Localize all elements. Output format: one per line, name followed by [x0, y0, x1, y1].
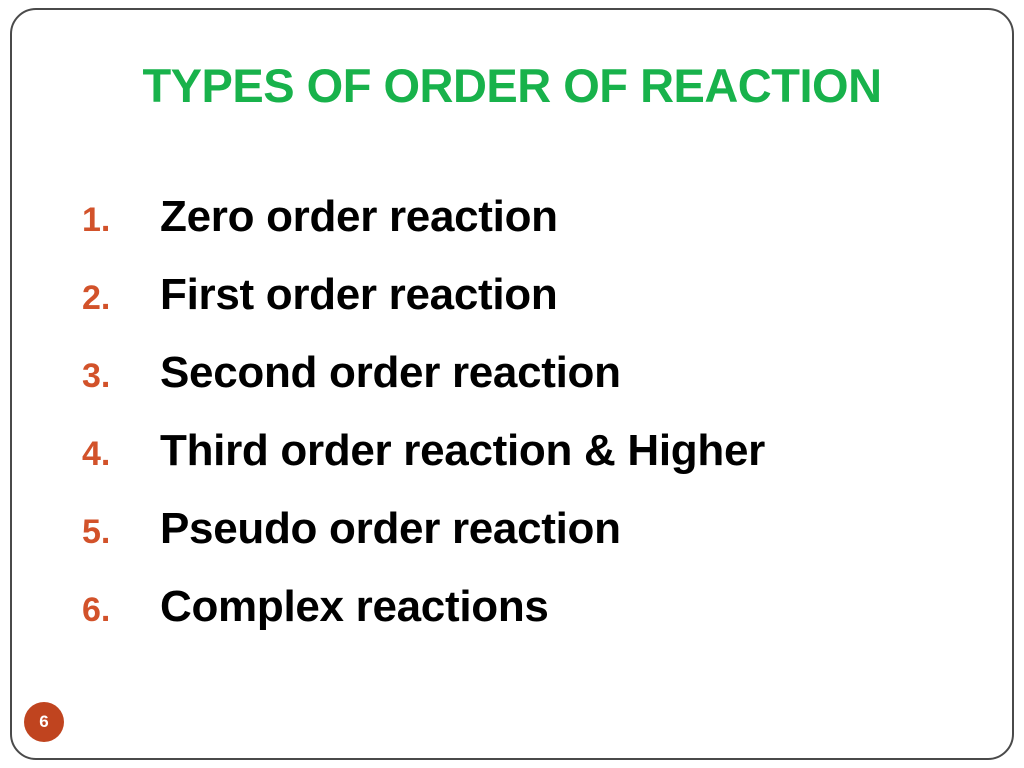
list-item: 6. Complex reactions — [82, 582, 962, 660]
list-item-label: First order reaction — [160, 270, 557, 320]
list-item: 1. Zero order reaction — [82, 192, 962, 270]
slide: TYPES OF ORDER OF REACTION 1. Zero order… — [0, 0, 1024, 768]
list-item-number: 1. — [82, 201, 160, 240]
list-item-number: 5. — [82, 513, 160, 552]
list-item: 2. First order reaction — [82, 270, 962, 348]
list-item-number: 3. — [82, 357, 160, 396]
list-item-label: Second order reaction — [160, 348, 621, 398]
list-item-label: Third order reaction & Higher — [160, 426, 765, 476]
list-item: 4. Third order reaction & Higher — [82, 426, 962, 504]
page-title: TYPES OF ORDER OF REACTION — [0, 58, 1024, 113]
list-item: 5. Pseudo order reaction — [82, 504, 962, 582]
list-item-number: 2. — [82, 279, 160, 318]
list-item-label: Zero order reaction — [160, 192, 558, 242]
ordered-list: 1. Zero order reaction 2. First order re… — [82, 192, 962, 660]
page-number-badge: 6 — [24, 702, 64, 742]
list-item-number: 6. — [82, 591, 160, 630]
list-item: 3. Second order reaction — [82, 348, 962, 426]
list-item-number: 4. — [82, 435, 160, 474]
list-item-label: Complex reactions — [160, 582, 549, 632]
list-item-label: Pseudo order reaction — [160, 504, 621, 554]
